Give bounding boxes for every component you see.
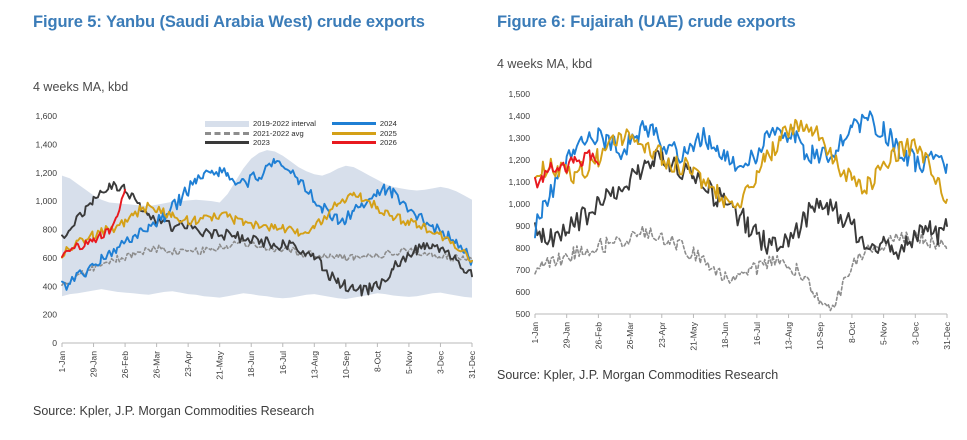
- x-tick-label: 5-Nov: [404, 350, 414, 374]
- x-tick-label: 29-Jan: [562, 322, 572, 348]
- figures-page: Figure 5: Yanbu (Saudi Arabia West) crud…: [0, 0, 967, 440]
- x-tick-label: 31-Dec: [467, 350, 477, 378]
- y-tick-label: 1,400: [35, 139, 57, 149]
- figure-6-source: Source: Kpler, J.P. Morgan Commodities R…: [497, 368, 778, 382]
- x-tick-label: 23-Apr: [657, 322, 667, 348]
- x-tick-label: 16-Jul: [752, 322, 762, 345]
- x-tick-label: 10-Sep: [815, 322, 825, 350]
- x-tick-label: 26-Feb: [120, 351, 130, 378]
- legend-label: 2025: [380, 130, 397, 138]
- legend-swatch-icon: [332, 141, 376, 144]
- x-tick-label: 21-May: [215, 350, 225, 379]
- legend-label: 2021-2022 avg: [253, 130, 304, 138]
- x-tick-label: 13-Aug: [309, 351, 319, 379]
- x-tick-label: 1-Jan: [57, 351, 67, 373]
- legend-item-2023[interactable]: 2023: [205, 139, 316, 147]
- x-tick-label: 31-Dec: [942, 321, 952, 349]
- figure-5-title: Figure 5: Yanbu (Saudi Arabia West) crud…: [33, 12, 433, 33]
- legend-item-2025[interactable]: 2025: [332, 130, 397, 138]
- legend-swatch-icon: [205, 141, 249, 144]
- legend-item-2021-2022-avg[interactable]: 2021-2022 avg: [205, 130, 316, 138]
- figure-5-legend: 2019-2022 interval20242021-2022 avg20252…: [205, 120, 397, 147]
- figure-6-subtitle: 4 weeks MA, kbd: [497, 57, 592, 71]
- legend-label: 2023: [253, 139, 270, 147]
- legend-item-2026[interactable]: 2026: [332, 139, 397, 147]
- x-tick-label: 8-Oct: [372, 350, 382, 372]
- x-tick-label: 5-Nov: [879, 321, 889, 345]
- series-line-2024: [535, 111, 947, 237]
- y-tick-label: 800: [43, 225, 58, 235]
- legend-swatch-icon: [205, 121, 249, 127]
- figure-5-chart: 02004006008001,0001,2001,4001,6001-Jan29…: [20, 110, 480, 395]
- y-tick-label: 800: [516, 243, 531, 253]
- legend-label: 2026: [380, 139, 397, 147]
- y-tick-label: 700: [516, 265, 531, 275]
- y-tick-label: 1,200: [35, 168, 57, 178]
- y-tick-label: 400: [43, 281, 58, 291]
- y-tick-label: 1,500: [508, 89, 530, 99]
- y-tick-label: 900: [516, 221, 531, 231]
- legend-label: 2024: [380, 120, 397, 128]
- legend-item-2024[interactable]: 2024: [332, 120, 397, 128]
- figure-5-panel: Figure 5: Yanbu (Saudi Arabia West) crud…: [0, 0, 487, 440]
- x-tick-label: 8-Oct: [847, 321, 857, 343]
- figure-6-title: Figure 6: Fujairah (UAE) crude exports: [497, 12, 917, 33]
- x-tick-label: 21-May: [689, 321, 699, 350]
- figure-5-subtitle: 4 weeks MA, kbd: [33, 80, 128, 94]
- y-tick-label: 1,200: [508, 155, 530, 165]
- y-tick-label: 600: [43, 253, 58, 263]
- x-tick-label: 10-Sep: [341, 351, 351, 379]
- x-tick-label: 3-Dec: [436, 350, 446, 374]
- y-tick-label: 200: [43, 310, 58, 320]
- x-tick-label: 13-Aug: [784, 322, 794, 350]
- y-tick-label: 1,100: [508, 177, 530, 187]
- x-tick-label: 26-Mar: [152, 351, 162, 378]
- x-tick-label: 3-Dec: [910, 321, 920, 345]
- legend-swatch-icon: [332, 122, 376, 125]
- figure-6-chart: 5006007008009001,0001,1001,2001,3001,400…: [487, 88, 957, 366]
- x-tick-label: 18-Jun: [246, 351, 256, 377]
- y-tick-label: 600: [516, 287, 531, 297]
- figure-5-source: Source: Kpler, J.P. Morgan Commodities R…: [33, 404, 314, 418]
- x-tick-label: 18-Jun: [720, 322, 730, 348]
- chart-right-svg: 5006007008009001,0001,1001,2001,3001,400…: [487, 88, 957, 366]
- x-tick-label: 29-Jan: [89, 351, 99, 377]
- y-tick-label: 1,600: [35, 111, 57, 121]
- figure-6-panel: Figure 6: Fujairah (UAE) crude exports 4…: [487, 0, 967, 440]
- y-tick-label: 1,400: [508, 111, 530, 121]
- x-tick-label: 1-Jan: [530, 322, 540, 344]
- y-tick-label: 1,000: [35, 196, 57, 206]
- legend-label: 2019-2022 interval: [253, 120, 316, 128]
- legend-item-2019-2022-interval[interactable]: 2019-2022 interval: [205, 120, 316, 128]
- chart-left-svg: 02004006008001,0001,2001,4001,6001-Jan29…: [20, 110, 480, 395]
- y-tick-label: 1,300: [508, 133, 530, 143]
- legend-swatch-icon: [205, 132, 249, 135]
- x-tick-label: 26-Mar: [625, 322, 635, 349]
- y-tick-label: 0: [52, 338, 57, 348]
- x-tick-label: 16-Jul: [278, 351, 288, 374]
- legend-swatch-icon: [332, 132, 376, 135]
- y-tick-label: 500: [516, 309, 531, 319]
- x-tick-label: 26-Feb: [593, 322, 603, 349]
- x-tick-label: 23-Apr: [183, 351, 193, 377]
- y-tick-label: 1,000: [508, 199, 530, 209]
